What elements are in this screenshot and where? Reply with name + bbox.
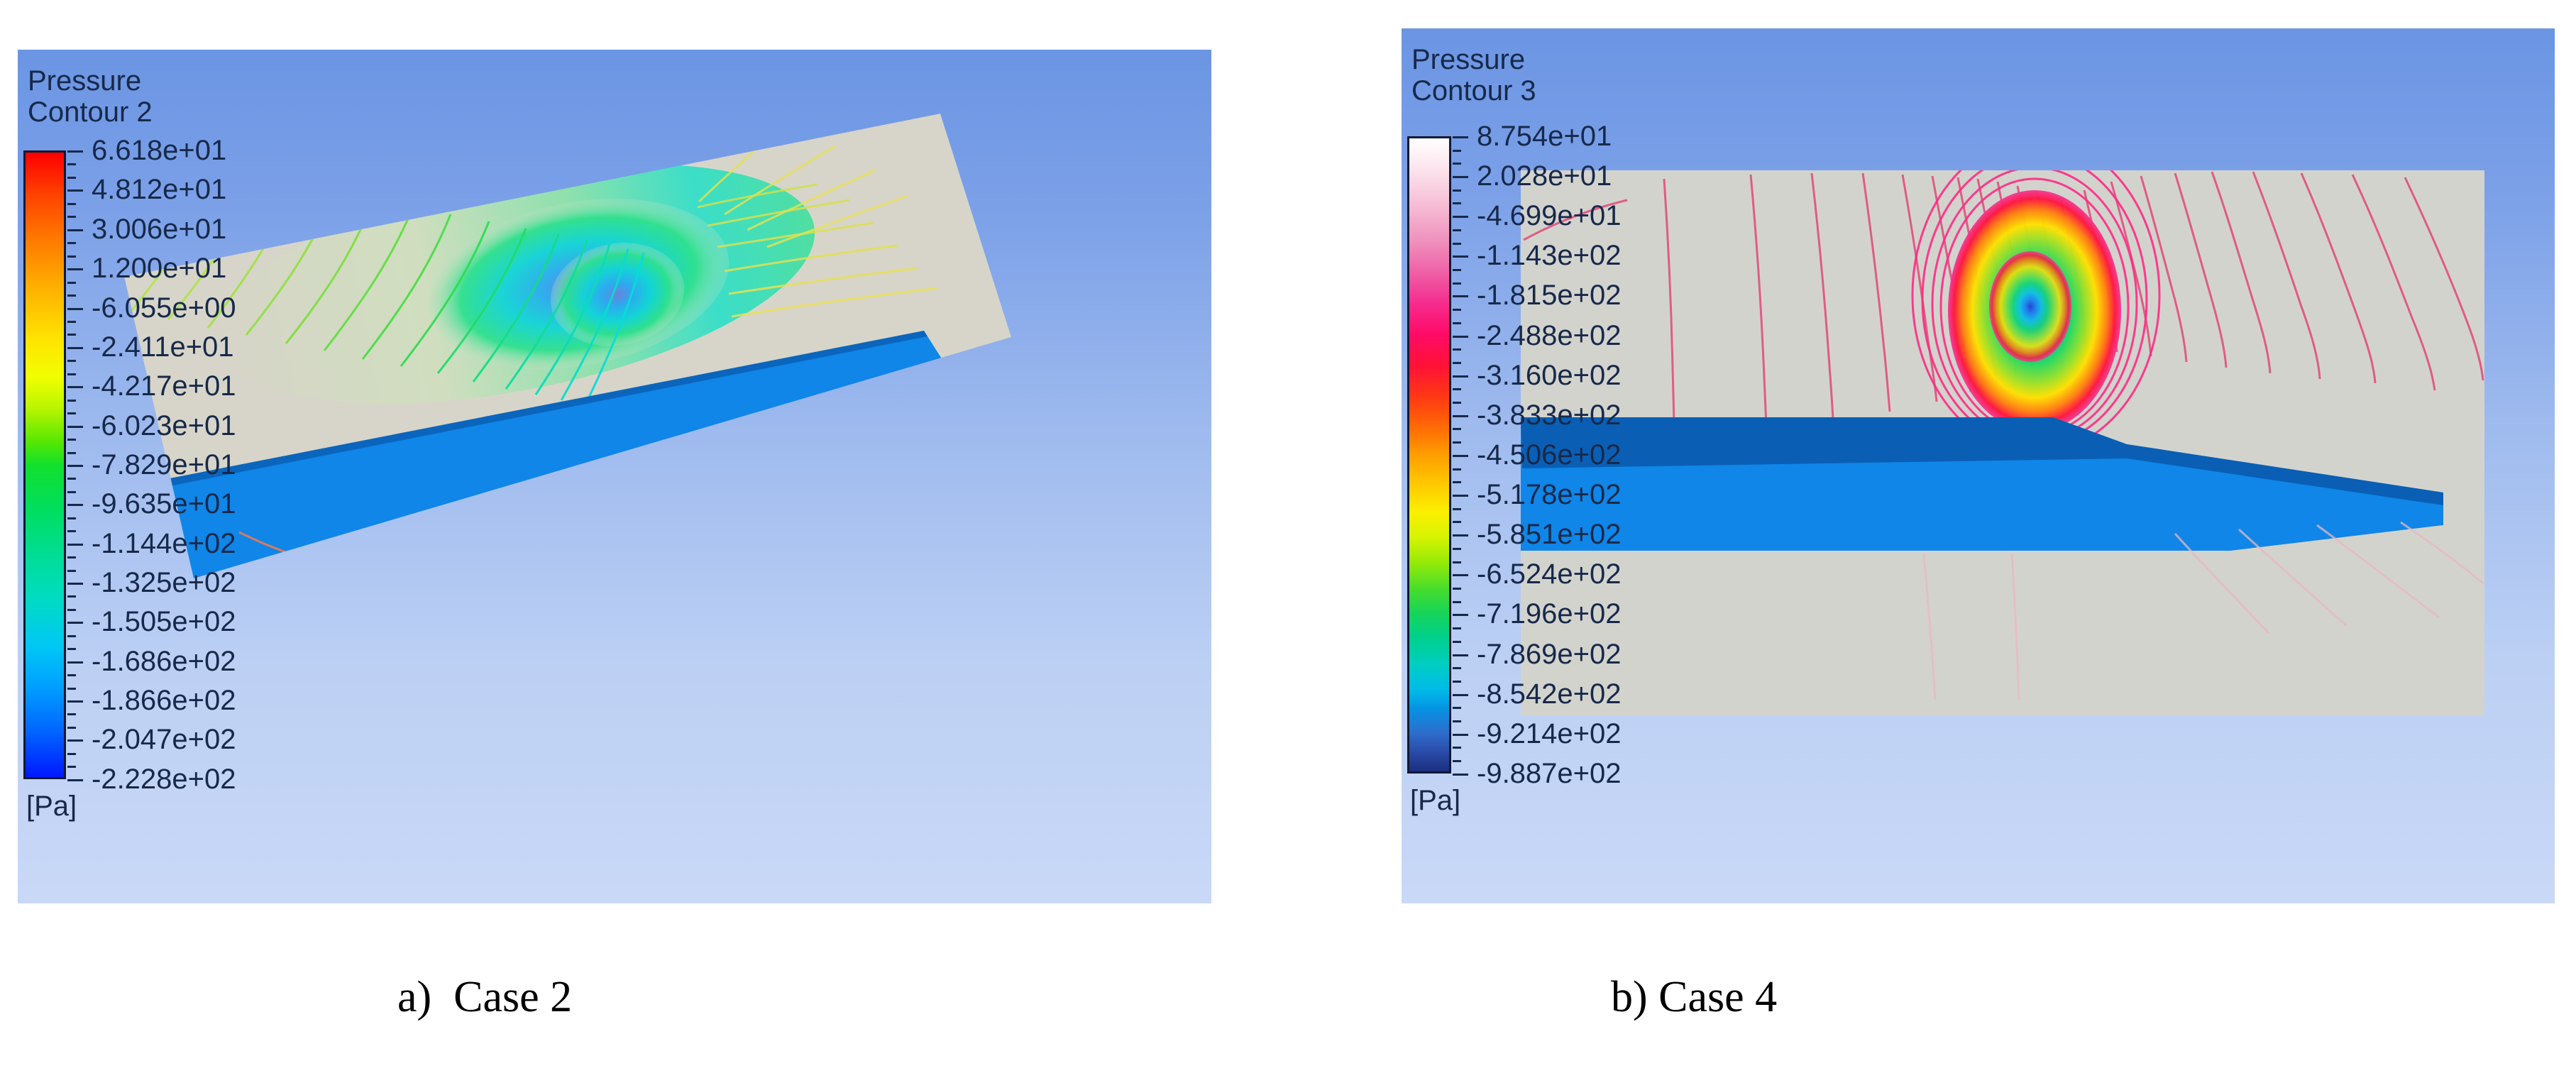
cb-label: -3.160e+02 — [1477, 361, 1622, 390]
cb-label: -6.524e+02 — [1477, 560, 1622, 588]
cb-label: -9.635e+01 — [92, 490, 236, 518]
legend-title-left: Pressure Contour 2 — [28, 65, 153, 128]
contour-panel-case-2: Pressure Contour 2 6.618e+01 4.812e+01 3 — [18, 50, 1211, 903]
colorbar-ticks-right — [1453, 136, 1470, 774]
cb-label: -1.505e+02 — [92, 607, 236, 636]
cb-label: 1.200e+01 — [92, 254, 226, 282]
legend-unit-right: [Pa] — [1410, 786, 1460, 815]
cb-label: -2.488e+02 — [1477, 321, 1622, 350]
cb-label: -1.143e+02 — [1477, 241, 1622, 270]
cb-label: -7.829e+01 — [92, 451, 236, 479]
caption-case-2: a) Case 2 — [397, 972, 572, 1022]
cb-label: -4.506e+02 — [1477, 441, 1622, 469]
cb-label: -2.411e+01 — [92, 333, 234, 361]
colorbar-right — [1407, 136, 1451, 774]
cb-label: -5.178e+02 — [1477, 480, 1622, 509]
cb-label: -4.699e+01 — [1477, 202, 1622, 230]
caption-case-4: b) Case 4 — [1611, 972, 1777, 1022]
cb-label: -7.869e+02 — [1477, 640, 1622, 668]
legend-unit-left: [Pa] — [26, 792, 77, 820]
colorbar-left — [23, 150, 66, 779]
contour-panel-case-4: Pressure Contour 3 8.754e+01 2.028e+01 - — [1402, 28, 2555, 903]
colorbar-ticks-left — [67, 150, 84, 779]
figure-root: Pressure Contour 2 6.618e+01 4.812e+01 3 — [0, 0, 2576, 1073]
cb-label: -1.686e+02 — [92, 647, 236, 676]
legend-title-right: Pressure Contour 3 — [1411, 44, 1536, 106]
colorbar-labels-right: 8.754e+01 2.028e+01 -4.699e+01 -1.143e+0… — [1477, 136, 1718, 774]
cb-label: 6.618e+01 — [92, 136, 226, 165]
cb-label: -2.047e+02 — [92, 725, 236, 754]
cb-label: 4.812e+01 — [92, 175, 226, 204]
cb-label: -1.866e+02 — [92, 686, 236, 715]
cb-label: -9.887e+02 — [1477, 759, 1622, 788]
cb-label: -4.217e+01 — [92, 372, 236, 400]
cb-label: -5.851e+02 — [1477, 520, 1622, 549]
cb-label: -2.228e+02 — [92, 765, 236, 793]
cb-label: -1.815e+02 — [1477, 281, 1622, 309]
cb-label: -1.144e+02 — [92, 529, 236, 558]
colorbar-labels-left: 6.618e+01 4.812e+01 3.006e+01 1.200e+01 … — [92, 150, 326, 779]
cb-label: -6.023e+01 — [92, 412, 236, 440]
cb-label: -3.833e+02 — [1477, 401, 1622, 429]
cb-label: -7.196e+02 — [1477, 600, 1622, 628]
cb-label: -1.325e+02 — [92, 568, 236, 597]
cb-label: -9.214e+02 — [1477, 720, 1622, 748]
cb-label: -8.542e+02 — [1477, 680, 1622, 708]
cb-label: -6.055e+00 — [92, 294, 236, 322]
cb-label: 8.754e+01 — [1477, 122, 1612, 150]
cb-label: 2.028e+01 — [1477, 162, 1612, 190]
cb-label: 3.006e+01 — [92, 215, 226, 243]
